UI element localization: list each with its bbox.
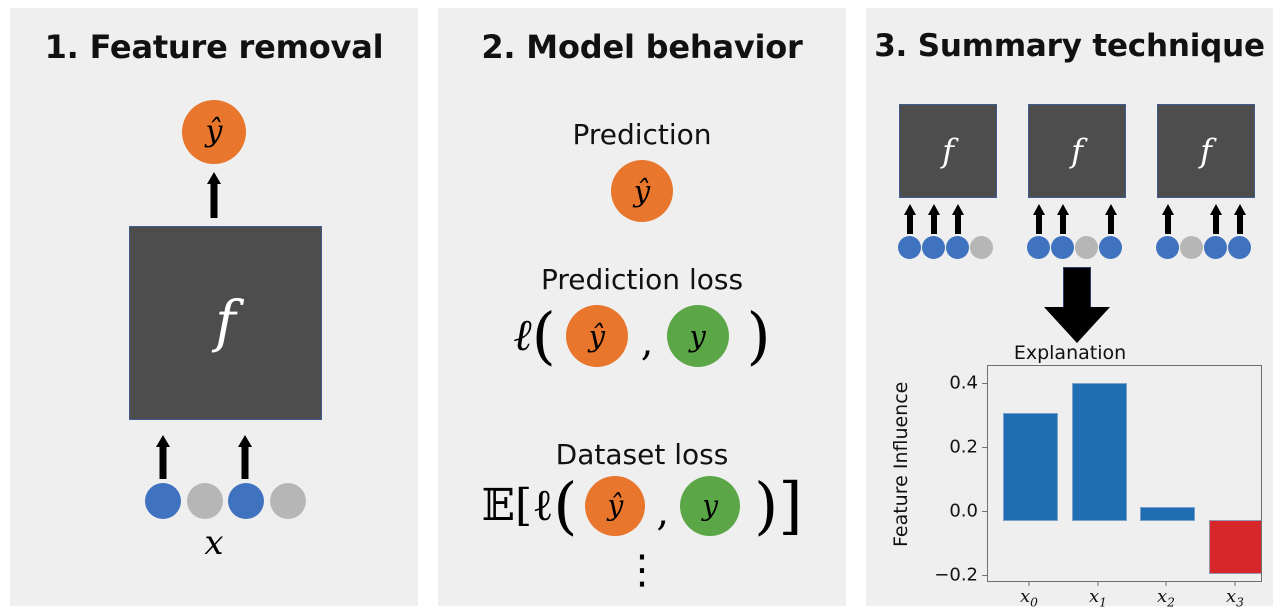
- xtick-label-x3: x3: [1226, 586, 1244, 610]
- y-glyph: y: [702, 492, 718, 520]
- label-node-y: y: [680, 476, 740, 536]
- arrow-shaft: [1237, 214, 1243, 234]
- summarize-down-arrow-icon: [1043, 267, 1111, 343]
- chart-ylabel: Feature Influence: [890, 382, 912, 547]
- yhat-glyph: ŷ: [589, 322, 605, 351]
- arrow-shaft: [160, 446, 167, 479]
- xtick-base: x: [1020, 586, 1030, 607]
- feature-dot-0-present: [145, 483, 181, 519]
- xtick-sub: 2: [1167, 596, 1175, 610]
- prediction-node-yhat: ŷ: [611, 160, 673, 222]
- dataset-loss-expression: 𝔼[ℓ ( ŷ , y ) ]: [438, 470, 846, 542]
- open-paren: (: [532, 311, 556, 361]
- panel-model-behavior: 2. Model behavior Prediction ŷ Predictio…: [438, 8, 846, 606]
- instance-1-dot-3-present: [1099, 236, 1122, 259]
- ytick-label--0.2: −0.2: [904, 565, 978, 586]
- explanation-chart: Explanation Feature Influence 0.4 0.2 0.…: [874, 342, 1266, 598]
- model-f-glyph: f: [215, 295, 236, 351]
- panel-1-title: 1. Feature removal: [10, 28, 418, 66]
- arrow-shaft: [1165, 214, 1171, 234]
- feature-dot-2-present: [228, 483, 264, 519]
- model-box-f: f: [129, 226, 322, 420]
- big-arrow-head: [1044, 307, 1110, 343]
- instance-0-dot-1-present: [922, 236, 945, 259]
- model-box-f-instance-2: f: [1157, 104, 1255, 198]
- panel-feature-removal: 1. Feature removal ŷ f x: [10, 8, 418, 606]
- ytick-label-0.2: 0.2: [904, 437, 978, 458]
- label-node-y: y: [667, 305, 729, 367]
- close-paren: ): [754, 481, 778, 531]
- bar-x3: [1209, 520, 1262, 574]
- arrow-shaft: [1213, 214, 1219, 234]
- xtick-base: x: [1226, 586, 1236, 607]
- feature-removal-figure: 1. Feature removal ŷ f x: [0, 0, 1283, 614]
- panel-3-title: 3. Summary technique: [866, 28, 1273, 64]
- xtick-sub: 3: [1236, 596, 1244, 610]
- ytick-label-0.0: 0.0: [904, 501, 978, 522]
- bar-x2: [1140, 507, 1195, 521]
- model-f-glyph: f: [1071, 135, 1083, 167]
- panel-2-title: 2. Model behavior: [438, 28, 846, 66]
- arrow-instance-2-feature-2: [1204, 204, 1228, 234]
- prediction-node-yhat: ŷ: [182, 100, 246, 164]
- yhat-glyph: ŷ: [634, 177, 650, 206]
- xtick-label-x0: x0: [1020, 586, 1038, 610]
- arrow-instance-0-feature-1: [922, 204, 946, 234]
- bar-x0: [1003, 413, 1058, 521]
- dataset-loss-label: Dataset loss: [438, 438, 846, 471]
- arrow-shaft: [955, 214, 961, 234]
- instance-2-dot-2-present: [1204, 236, 1227, 259]
- model-f-glyph: f: [942, 135, 954, 167]
- bar-x1: [1072, 383, 1127, 521]
- input-label-x: x: [10, 526, 418, 560]
- comma-separator: ,: [628, 322, 667, 362]
- feature-dot-1-removed: [187, 483, 223, 519]
- arrow-feature-0-to-model: [148, 435, 178, 479]
- prediction-loss-expression: ℓ ( ŷ , y ): [438, 300, 846, 372]
- model-box-f-instance-0: f: [899, 104, 997, 198]
- arrow-shaft: [907, 214, 913, 234]
- instance-0-dot-2-present: [946, 236, 969, 259]
- xtick-label-x1: x1: [1089, 586, 1107, 610]
- arrow-instance-1-feature-1: [1051, 204, 1075, 234]
- instance-1-dot-2-removed: [1075, 236, 1098, 259]
- prediction-label: Prediction: [438, 118, 846, 151]
- feature-dot-3-removed: [270, 483, 306, 519]
- prediction-node-yhat: ŷ: [585, 476, 645, 536]
- y-glyph: y: [689, 322, 705, 351]
- arrow-shaft: [1036, 214, 1042, 234]
- instance-0-dot-3-removed: [970, 236, 993, 259]
- instance-1-dot-0-present: [1027, 236, 1050, 259]
- arrow-shaft: [242, 446, 249, 479]
- arrow-feature-2-to-model: [230, 435, 260, 479]
- arrow-shaft: [1060, 214, 1066, 234]
- instance-1-dot-1-present: [1051, 236, 1074, 259]
- arrow-instance-1-feature-3: [1099, 204, 1123, 234]
- xtick-base: x: [1157, 586, 1167, 607]
- arrow-instance-1-feature-0: [1027, 204, 1051, 234]
- comma-separator: ,: [645, 492, 680, 532]
- close-paren: ): [747, 311, 771, 361]
- chart-plot-area: [987, 365, 1262, 582]
- prediction-loss-label: Prediction loss: [438, 263, 846, 296]
- yhat-glyph: ŷ: [206, 117, 223, 147]
- instance-2-dot-3-present: [1228, 236, 1251, 259]
- expectation-bracket-prefix: 𝔼[ℓ: [481, 484, 553, 528]
- loss-ell-symbol: ℓ: [513, 314, 531, 358]
- arrow-shaft: [211, 183, 218, 218]
- arrow-instance-0-feature-0: [898, 204, 922, 234]
- xtick-sub: 1: [1099, 596, 1107, 610]
- open-paren: (: [553, 481, 577, 531]
- ytick-label-0.4: 0.4: [904, 373, 978, 394]
- xtick-base: x: [1089, 586, 1099, 607]
- arrow-instance-2-feature-0: [1156, 204, 1180, 234]
- panel-summary-technique: 3. Summary technique f f: [866, 8, 1273, 606]
- arrow-shaft: [1108, 214, 1114, 234]
- instance-2-dot-0-present: [1156, 236, 1179, 259]
- arrow-model-to-prediction: [199, 172, 229, 218]
- big-arrow-shaft: [1063, 267, 1091, 312]
- model-box-f-instance-1: f: [1028, 104, 1126, 198]
- instance-2-dot-1-removed: [1180, 236, 1203, 259]
- continuation-dots: ⋮: [438, 560, 846, 580]
- arrow-instance-0-feature-2: [946, 204, 970, 234]
- chart-title: Explanation: [874, 342, 1266, 364]
- xtick-sub: 0: [1030, 596, 1038, 610]
- close-expectation-bracket: ]: [778, 481, 802, 531]
- prediction-node-yhat: ŷ: [566, 305, 628, 367]
- yhat-glyph: ŷ: [608, 492, 624, 520]
- xtick-label-x2: x2: [1157, 586, 1175, 610]
- arrow-shaft: [931, 214, 937, 234]
- instance-0-dot-0-present: [898, 236, 921, 259]
- arrow-instance-2-feature-3: [1228, 204, 1252, 234]
- model-f-glyph: f: [1200, 135, 1212, 167]
